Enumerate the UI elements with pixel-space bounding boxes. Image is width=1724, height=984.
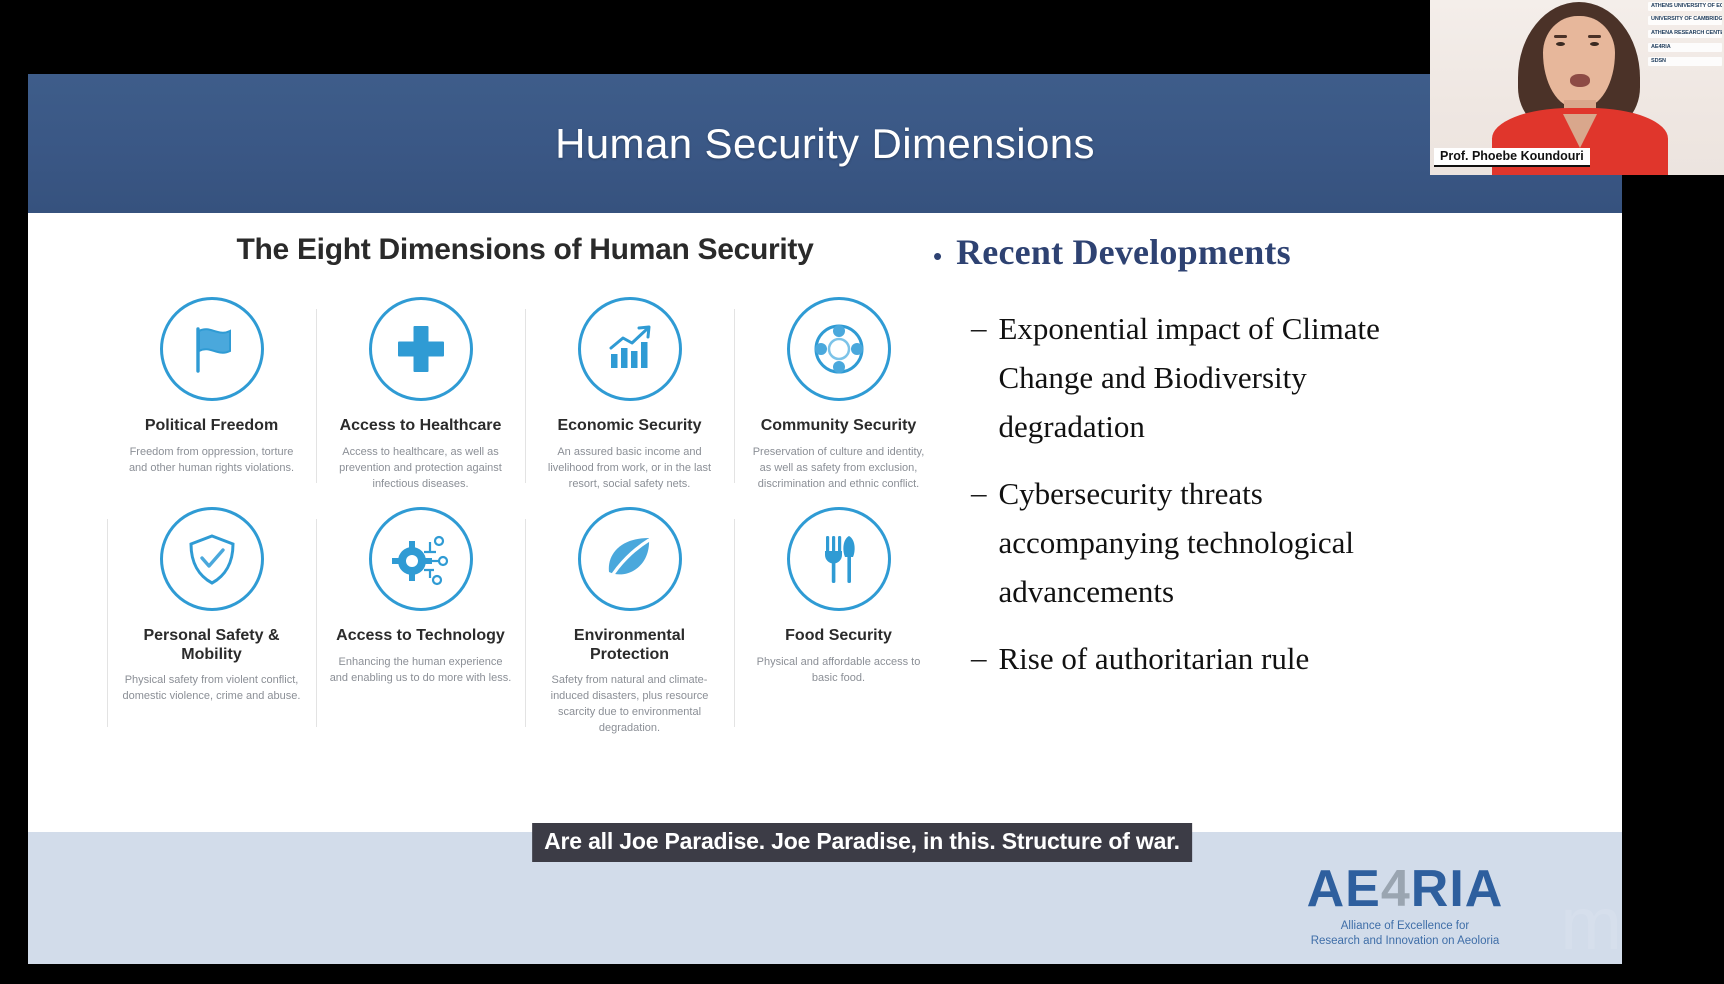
speaker-name-label: Prof. Phoebe Koundouri (1434, 148, 1590, 167)
ae4ria-logo: AE4RIA Alliance of Excellence for Resear… (1280, 863, 1530, 950)
list-item-text: Rise of authoritarian rule (999, 635, 1310, 684)
letterbox-bottom (0, 964, 1724, 984)
recent-developments-title: Recent Developments (956, 231, 1291, 273)
list-item-text: Exponential impact of Climate Change and… (999, 305, 1429, 452)
logo-aueb: ATHENS UNIVERSITY OF ECONOMICS AND BUSIN… (1648, 2, 1722, 11)
dimension-description: Access to healthcare, as well as prevent… (325, 445, 516, 493)
slide-body: The Eight Dimensions of Human Security P… (28, 213, 1622, 913)
dimension-label: Economic Security (534, 417, 725, 436)
dimension-description: Preservation of culture and identity, as… (743, 445, 934, 493)
flag-icon (160, 297, 264, 401)
dimension-card: Access to Technology Enhancing the human… (319, 507, 522, 738)
dimension-description: Enhancing the human experience and enabl… (325, 655, 516, 687)
dimension-card: Personal Safety & Mobility Physical safe… (110, 507, 313, 738)
speaker-brow-right (1588, 35, 1601, 38)
ae4ria-tagline-line1: Alliance of Excellence for (1280, 919, 1530, 935)
dimension-label: Community Security (743, 417, 934, 436)
ae4ria-tagline-line2: Research and Innovation on Aeoloria (1280, 934, 1530, 950)
webcam-video-tile[interactable]: ATHENS UNIVERSITY OF ECONOMICS AND BUSIN… (1430, 0, 1724, 175)
logo-athena: ATHENA RESEARCH CENTER (1648, 30, 1722, 39)
dimension-description: Freedom from oppression, torture and oth… (116, 445, 307, 477)
dimension-card: Access to Healthcare Access to healthcar… (319, 297, 522, 493)
dash-icon: – (971, 635, 987, 684)
recent-developments-list: – Exponential impact of Climate Change a… (933, 305, 1463, 684)
logo-cambridge: UNIVERSITY OF CAMBRIDGE (1648, 16, 1722, 25)
list-item: – Rise of authoritarian rule (971, 635, 1463, 684)
slide-header: Human Security Dimensions (28, 74, 1622, 213)
speaker-brow-left (1554, 35, 1567, 38)
logo-part-ae: AE (1307, 860, 1381, 918)
list-item-text: Cybersecurity threats accompanying techn… (999, 470, 1429, 617)
screen: Human Security Dimensions The Eight Dime… (0, 0, 1724, 984)
dimension-label: Personal Safety & Mobility (116, 627, 307, 665)
slide-title: Human Security Dimensions (555, 120, 1095, 168)
letterbox-right (1622, 175, 1724, 984)
letterbox-left (0, 0, 28, 984)
dimension-card: Food Security Physical and affordable ac… (737, 507, 940, 738)
logo-sdsn: SDSN (1648, 57, 1722, 66)
dimension-card: Economic Security An assured basic incom… (528, 297, 731, 493)
ae4ria-tagline: Alliance of Excellence for Research and … (1280, 919, 1530, 950)
dash-icon: – (971, 305, 987, 452)
list-item: – Cybersecurity threats accompanying tec… (971, 470, 1463, 617)
leaf-icon (578, 507, 682, 611)
fork-knife-icon (787, 507, 891, 611)
medical-cross-icon (369, 297, 473, 401)
logo-part-ria: RIA (1411, 860, 1504, 918)
dimension-label: Political Freedom (116, 417, 307, 436)
dimension-description: Physical safety from violent conflict, d… (116, 673, 307, 705)
dimension-card: Political Freedom Freedom from oppressio… (110, 297, 313, 493)
dimension-label: Environmental Protection (534, 627, 725, 665)
recent-developments-heading: • Recent Developments (933, 231, 1463, 273)
webcam-logo-strip: ATHENS UNIVERSITY OF ECONOMICS AND BUSIN… (1650, 2, 1722, 66)
dimension-description: Physical and affordable access to basic … (743, 655, 934, 687)
dimension-label: Food Security (743, 627, 934, 646)
speaker-eye-left (1556, 42, 1565, 46)
dimension-description: An assured basic income and livelihood f… (534, 445, 725, 493)
dimension-card: Environmental Protection Safety from nat… (528, 507, 731, 738)
bullet-icon: • (933, 231, 942, 269)
logo-part-four: 4 (1381, 860, 1411, 918)
speaker-neckline (1563, 114, 1597, 148)
recent-developments-panel: • Recent Developments – Exponential impa… (933, 231, 1463, 702)
speaker-mouth (1570, 74, 1590, 87)
dimensions-grid: Political Freedom Freedom from oppressio… (110, 297, 940, 737)
ae4ria-wordmark: AE4RIA (1280, 863, 1530, 915)
letterbox-top (0, 0, 1430, 74)
dimension-card: Community Security Preservation of cultu… (737, 297, 940, 493)
live-caption: Are all Joe Paradise. Joe Paradise, in t… (532, 823, 1192, 862)
list-item: – Exponential impact of Climate Change a… (971, 305, 1463, 452)
growth-chart-icon (578, 297, 682, 401)
globe-people-icon (787, 297, 891, 401)
shield-check-icon (160, 507, 264, 611)
dimension-description: Safety from natural and climate-induced … (534, 673, 725, 737)
eight-dimensions-infographic: The Eight Dimensions of Human Security P… (110, 233, 940, 737)
infographic-title: The Eight Dimensions of Human Security (110, 233, 940, 267)
logo-ae4ria: AE4RIA (1648, 43, 1722, 52)
dimension-label: Access to Healthcare (325, 417, 516, 436)
dash-icon: – (971, 470, 987, 617)
gear-circuit-icon (369, 507, 473, 611)
speaker-eye-right (1590, 42, 1599, 46)
dimension-label: Access to Technology (325, 627, 516, 646)
